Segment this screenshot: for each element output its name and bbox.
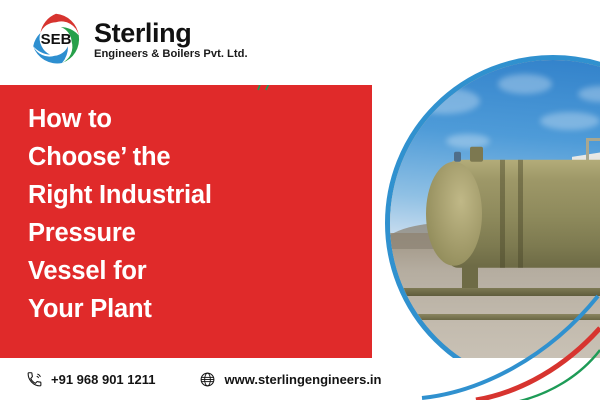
phone-contact[interactable]: +91 968 901 1211 [26, 371, 155, 388]
promo-poster: SEB Sterling Engineers & Boilers Pvt. Lt… [0, 0, 600, 400]
photo-scene [390, 60, 600, 386]
headline-line-4: Pressure [28, 214, 348, 252]
headline-line-3: Right Industrial [28, 176, 348, 214]
logo-initials-text: SEB [41, 31, 72, 48]
phone-icon [26, 371, 43, 388]
website-url: www.sterlingengineers.in [224, 372, 381, 387]
skid-beam [390, 314, 600, 320]
pressure-vessel [426, 160, 600, 268]
pressure-vessel-photo [385, 55, 600, 391]
globe-icon [199, 371, 216, 388]
headline-line-2: Choose’ the [28, 138, 348, 176]
headline-line-1: How to [28, 100, 348, 138]
company-name: Sterling [94, 20, 248, 48]
vessel-dished-head [426, 162, 482, 266]
brand-logo[interactable]: SEB Sterling Engineers & Boilers Pvt. Lt… [26, 9, 248, 69]
headline-line-6: Your Plant [28, 290, 348, 328]
headline-line-5: Vessel for [28, 252, 348, 290]
seb-swirl-logo-icon: SEB [26, 9, 86, 69]
website-contact[interactable]: www.sterlingengineers.in [199, 371, 381, 388]
vessel-nozzle [470, 147, 483, 162]
poster-footer: +91 968 901 1211 www.sterlingengineers.i… [0, 358, 600, 400]
skid-beam [390, 288, 600, 296]
company-tagline: Engineers & Boilers Pvt. Ltd. [94, 49, 248, 60]
vessel-instrument [454, 152, 461, 162]
phone-number: +91 968 901 1211 [51, 372, 155, 387]
headline: How to Choose’ the Right Industrial Pres… [28, 100, 348, 328]
